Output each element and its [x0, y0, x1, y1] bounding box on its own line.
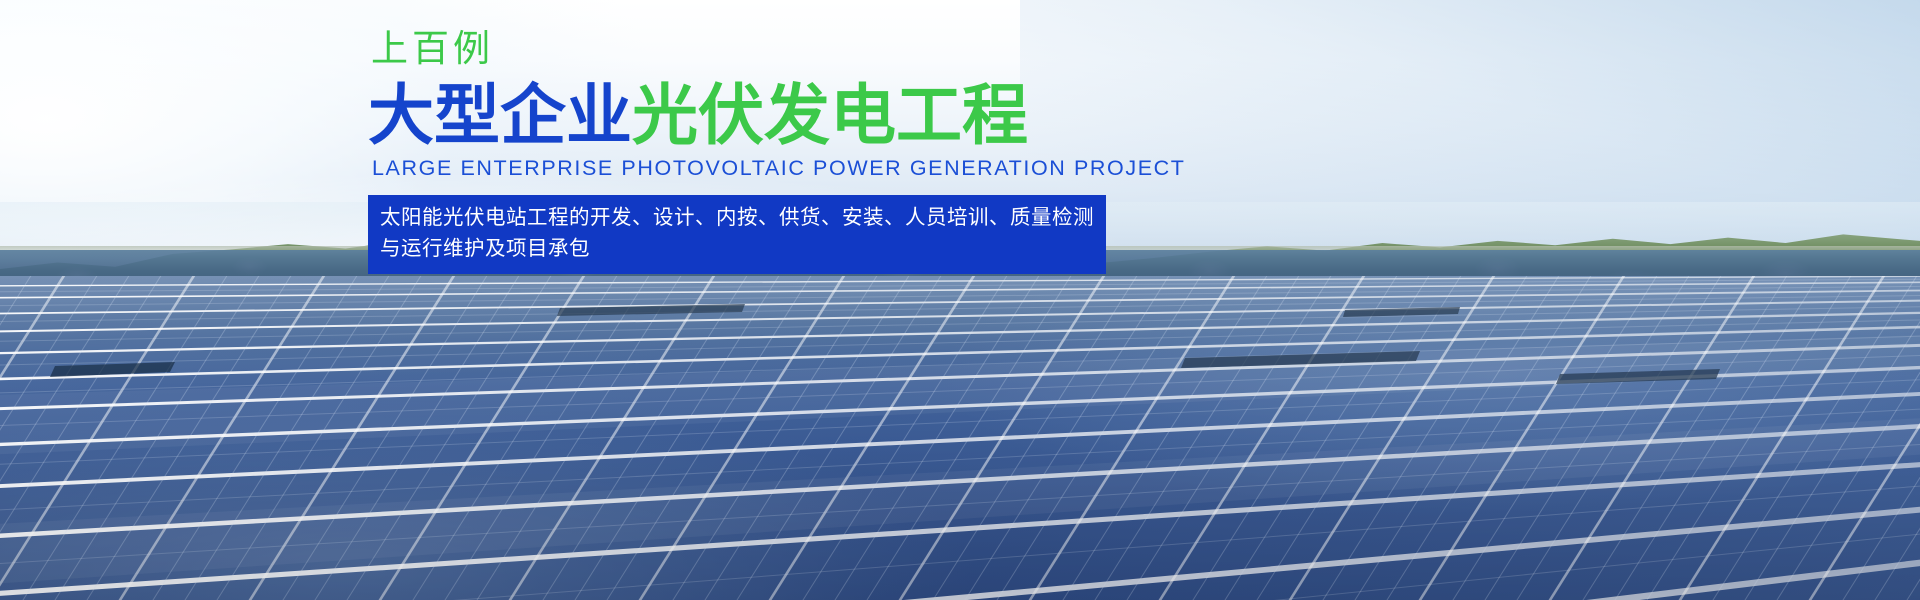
solar-panel-array — [0, 276, 1920, 600]
banner-subtitle-english: LARGE ENTERPRISE PHOTOVOLTAIC POWER GENE… — [372, 158, 1128, 180]
description-line-2: 与运行维护及项目承包 — [380, 234, 1094, 265]
headline-green-segment: 光伏发电工程 — [632, 78, 1028, 152]
panel-glossy-reflection — [0, 276, 1920, 600]
banner-headline: 大型企业光伏发电工程 — [368, 81, 1128, 150]
banner-eyebrow: 上百例 — [371, 30, 1128, 67]
banner-description-box: 太阳能光伏电站工程的开发、设计、内按、供货、安装、人员培训、质量检测 与运行维护… — [368, 195, 1106, 274]
headline-blue-segment: 大型企业 — [368, 78, 632, 152]
photovoltaic-project-banner: 上百例 大型企业光伏发电工程 LARGE ENTERPRISE PHOTOVOL… — [0, 0, 1920, 600]
description-line-1: 太阳能光伏电站工程的开发、设计、内按、供货、安装、人员培训、质量检测 — [380, 203, 1094, 234]
banner-text-block: 上百例 大型企业光伏发电工程 LARGE ENTERPRISE PHOTOVOL… — [368, 30, 1128, 274]
